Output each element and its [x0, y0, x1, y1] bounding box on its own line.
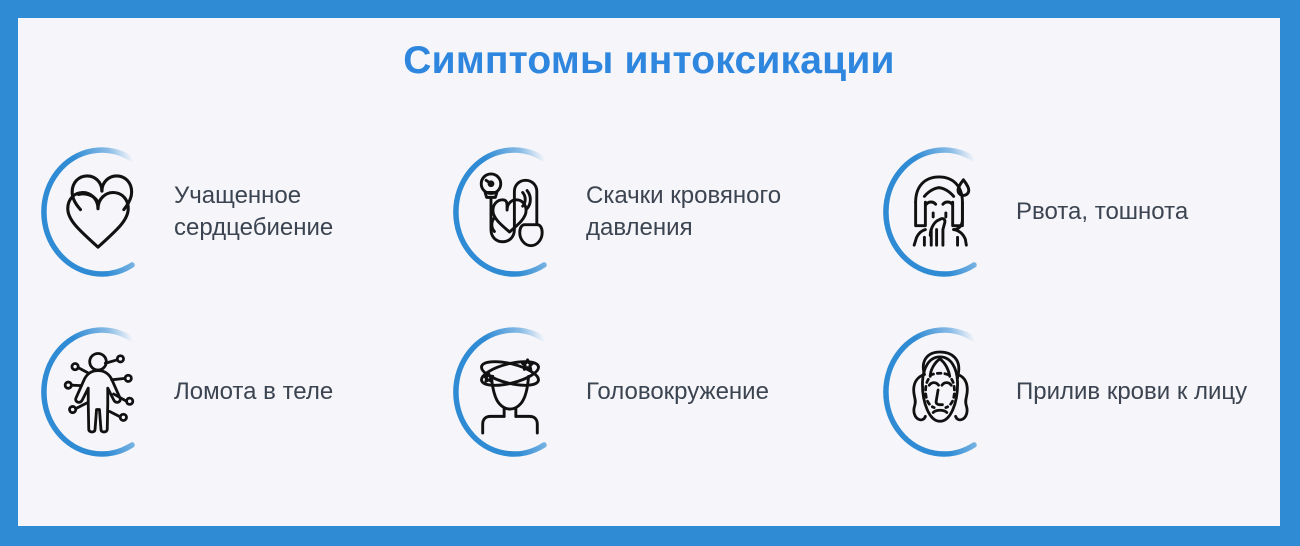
symptom-item-vomiting-nausea: Рвота, тошнота	[878, 137, 1260, 287]
symptom-item-rapid-heartbeat: Учащенное сердцебиение	[36, 137, 448, 287]
symptom-label: Скачки кровяного давления	[586, 180, 866, 244]
page-title: Симптомы интоксикации	[18, 40, 1280, 83]
symptom-icon-ring	[878, 137, 1002, 287]
blood-pressure-monitor-icon	[471, 169, 549, 255]
symptom-label: Ломота в теле	[174, 376, 333, 408]
symptom-icon-ring	[36, 137, 160, 287]
symptoms-grid: Учащенное сердцебиение	[36, 122, 1260, 482]
symptom-label: Головокружение	[586, 376, 769, 408]
symptom-icon-ring	[36, 317, 160, 467]
symptom-label: Прилив крови к лицу	[1016, 376, 1247, 408]
symptom-icon-ring	[448, 317, 572, 467]
symptom-item-body-aches: Ломота в теле	[36, 317, 448, 467]
symptom-label: Учащенное сердцебиение	[174, 180, 424, 244]
symptom-icon-ring	[878, 317, 1002, 467]
infographic-card: Симптомы интоксикации	[0, 0, 1300, 546]
infographic-panel: Симптомы интоксикации	[18, 18, 1280, 526]
symptom-item-blood-pressure-spikes: Скачки кровяного давления	[448, 137, 878, 287]
symptom-item-dizziness: Головокружение	[448, 317, 878, 467]
dizzy-head-icon	[471, 349, 549, 435]
nausea-person-icon	[901, 169, 979, 255]
flushed-face-icon	[901, 349, 979, 435]
symptom-label: Рвота, тошнота	[1016, 196, 1188, 228]
double-heart-icon	[59, 169, 137, 255]
symptom-icon-ring	[448, 137, 572, 287]
body-pain-points-icon	[59, 349, 137, 435]
symptom-item-facial-flushing: Прилив крови к лицу	[878, 317, 1260, 467]
